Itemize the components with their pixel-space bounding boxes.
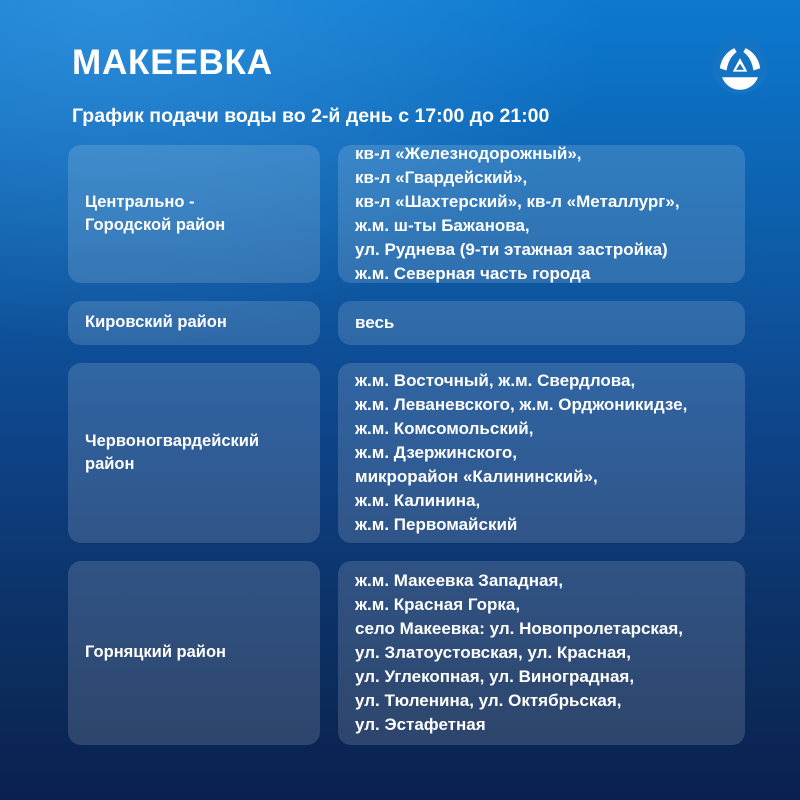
street-line: ул. Златоустовская, ул. Красная, [355,641,683,665]
street-line: ж.м. Калинина, [355,489,687,513]
district-cell: Горняцкий район [68,561,320,745]
table-row: Центрально - Городской район кв-л «Желез… [68,145,745,283]
district-cell: Центрально - Городской район [68,145,320,283]
street-line: ж.м. Комсомольский, [355,417,687,441]
street-line: село Макеевка: ул. Новопролетарская, [355,617,683,641]
streets-cell: ж.м. Макеевка Западная, ж.м. Красная Гор… [338,561,745,745]
district-name: Червоногвардейский район [85,430,259,477]
street-line: ул. Руднева (9-ти этажная застройка) [355,238,680,262]
water-supply-schedule-poster: МАКЕЕВКА График подачи воды во 2-й день … [0,0,800,800]
page-title: МАКЕЕВКА [72,45,273,80]
street-line: ж.м. Леваневского, ж.м. Орджоникидзе, [355,393,687,417]
street-line: весь [355,311,394,335]
streets-list: ж.м. Восточный, ж.м. Свердлова, ж.м. Лев… [355,369,687,538]
poster-header: МАКЕЕВКА График подачи воды во 2-й день … [0,0,800,145]
district-name: Центрально - Городской район [85,191,225,238]
street-line: ул. Углекопная, ул. Виноградная, [355,665,683,689]
street-line: кв-л «Железнодорожный», [355,142,680,166]
street-line: ж.м. Красная Горка, [355,593,683,617]
streets-list: ж.м. Макеевка Западная, ж.м. Красная Гор… [355,569,683,738]
administration-emblem-logo [712,38,768,94]
streets-cell: весь [338,301,745,345]
street-line: ж.м. Восточный, ж.м. Свердлова, [355,369,687,393]
streets-cell: кв-л «Железнодорожный», кв-л «Гвардейски… [338,145,745,283]
street-line: микрорайон «Калининский», [355,465,687,489]
street-line: ул. Эстафетная [355,713,683,737]
district-cell: Червоногвардейский район [68,363,320,543]
streets-list: весь [355,311,394,335]
district-name: Кировский район [85,311,227,334]
table-row: Червоногвардейский район ж.м. Восточный,… [68,363,745,543]
district-cell: Кировский район [68,301,320,345]
streets-cell: ж.м. Восточный, ж.м. Свердлова, ж.м. Лев… [338,363,745,543]
table-row: Кировский район весь [68,301,745,345]
street-line: ж.м. ш-ты Бажанова, [355,214,680,238]
street-line: ж.м. Макеевка Западная, [355,569,683,593]
streets-list: кв-л «Железнодорожный», кв-л «Гвардейски… [355,142,680,287]
schedule-subtitle: График подачи воды во 2-й день с 17:00 д… [72,107,549,127]
street-line: кв-л «Гвардейский», [355,166,680,190]
table-row: Горняцкий район ж.м. Макеевка Западная, … [68,561,745,745]
district-name: Горняцкий район [85,641,226,664]
street-line: ж.м. Первомайский [355,513,687,537]
street-line: ул. Тюленина, ул. Октябрьская, [355,689,683,713]
street-line: ж.м. Дзержинского, [355,441,687,465]
schedule-table: Центрально - Городской район кв-л «Желез… [68,145,745,763]
street-line: ж.м. Северная часть города [355,262,680,286]
street-line: кв-л «Шахтерский», кв-л «Металлург», [355,190,680,214]
